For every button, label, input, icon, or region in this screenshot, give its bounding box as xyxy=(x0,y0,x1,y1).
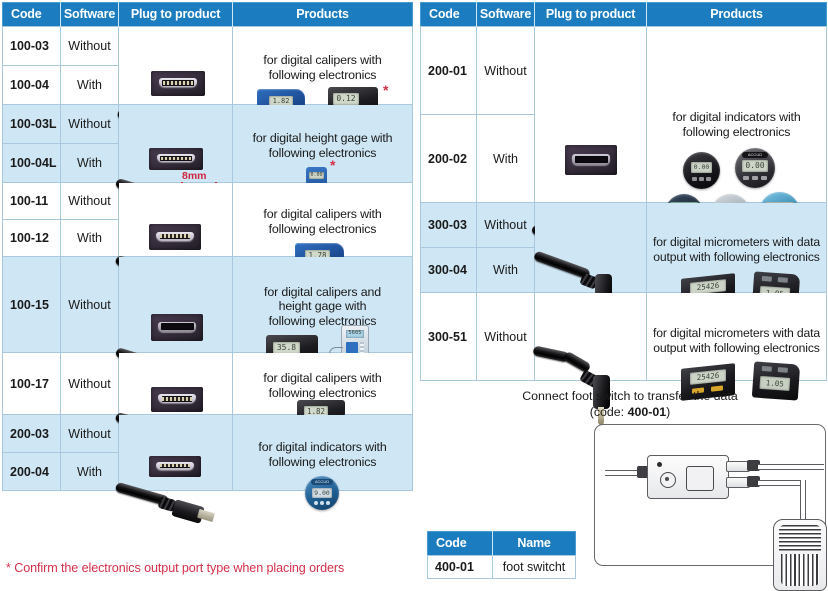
usb-socket-icon xyxy=(149,148,203,170)
cell-software: Without xyxy=(61,105,119,144)
cell-products: for digital calipers and height gage wit… xyxy=(233,257,413,353)
cell-code: 100-04 xyxy=(3,66,61,105)
cell-code: 400-01 xyxy=(428,556,493,579)
products-illustration-micrometers-2: for digital micrometers with data output… xyxy=(647,318,826,355)
cell-code: 200-02 xyxy=(421,115,477,203)
footswitch-pedal-wire-horizontal xyxy=(758,480,806,486)
footswitch-interface-unit xyxy=(647,455,729,499)
cell-plug-image xyxy=(535,293,647,381)
dial-indicator-accud-icon: ACCUD 0.00 xyxy=(735,148,775,188)
cell-products: for digital calipers with following elec… xyxy=(233,183,413,257)
cell-software: Without xyxy=(61,257,119,353)
cell-products: for digital height gage with following e… xyxy=(233,105,413,183)
cell-plug-image xyxy=(119,27,233,105)
status-led-icon xyxy=(657,462,662,467)
pedal-bottom-tread xyxy=(781,554,819,586)
cell-plug-image xyxy=(119,183,233,257)
products-illustration-micrometers-1: for digital micrometers with data output… xyxy=(647,231,826,264)
cell-software: Without xyxy=(61,183,119,220)
products-illustration-group-2: for digital height gage with following e… xyxy=(233,127,412,160)
table-row: 200-03 Without xyxy=(3,415,413,453)
cell-software: With xyxy=(61,144,119,183)
asterisk-marker: * xyxy=(330,158,335,172)
digital-indicator-dial-icon: ACCUD 9.00 xyxy=(305,476,339,510)
cell-products: for digital calipers with following elec… xyxy=(233,27,413,105)
cell-code: 300-51 xyxy=(421,293,477,381)
brand-label: ACCUD xyxy=(311,479,333,485)
products-description: for digital calipers with following elec… xyxy=(233,203,412,236)
cell-plug-image xyxy=(119,415,233,491)
brand-label: ACCUD xyxy=(742,152,768,158)
footswitch-code: 400-01 xyxy=(628,405,667,419)
column-header-products: Products xyxy=(647,3,827,27)
dial-indicator-black-icon: 0.00 xyxy=(683,152,720,189)
footswitch-diagram xyxy=(594,424,826,566)
column-header-software: Software xyxy=(61,3,119,27)
column-header-name: Name xyxy=(493,532,576,556)
cell-name: foot switcht xyxy=(493,556,576,579)
cell-software: Without xyxy=(477,203,535,248)
products-description: for digital calipers with following elec… xyxy=(233,49,412,82)
usb-socket-icon xyxy=(151,71,205,96)
products-illustration-group-1: for digital calipers with following elec… xyxy=(233,49,412,82)
footswitch-caption-line1: Connect foot switch to transfer the data xyxy=(432,389,828,405)
cell-code: 300-03 xyxy=(421,203,477,248)
table-header-row: Code Name xyxy=(428,532,576,556)
table-row: 200-01 Without xyxy=(421,27,827,115)
cell-software: With xyxy=(61,453,119,491)
cell-products: for digital calipers with following elec… xyxy=(233,353,413,415)
cell-software: With xyxy=(477,248,535,293)
footswitch-code-suffix: ) xyxy=(666,405,670,419)
products-description: for digital calipers with following elec… xyxy=(233,367,412,400)
footswitch-caption-line2: (code: 400-01) xyxy=(432,405,828,421)
table-row: 100-03L Without xyxy=(3,105,413,144)
cell-products: for digital indicators with following el… xyxy=(233,415,413,491)
footswitch-table: Code Name 400-01 foot switcht xyxy=(427,531,576,579)
cell-plug-image xyxy=(535,27,647,203)
products-description: for digital indicators with following el… xyxy=(233,436,412,469)
cell-code: 100-17 xyxy=(3,353,61,415)
cell-software: Without xyxy=(477,293,535,381)
cell-code: 100-11 xyxy=(3,183,61,220)
cell-plug-image xyxy=(119,353,233,415)
column-header-products: Products xyxy=(233,3,413,27)
footnote-text: * Confirm the electronics output port ty… xyxy=(6,561,344,575)
products-description: for digital micrometers with data output… xyxy=(647,318,826,355)
dimension-label: 8mm xyxy=(181,170,208,182)
usb-socket-icon xyxy=(149,456,201,477)
cell-plug-image: 8mm xyxy=(119,105,233,183)
table-row: 100-17 Without xyxy=(3,353,413,415)
table-row: 100-15 Without xyxy=(3,257,413,353)
footswitch-pedal-wire-vertical xyxy=(800,480,806,524)
unit-button[interactable] xyxy=(686,466,714,491)
footswitch-caption: Connect foot switch to transfer the data… xyxy=(432,389,828,420)
pedal-top-tread xyxy=(779,525,821,551)
cell-code: 100-03 xyxy=(3,27,61,66)
cell-code: 200-03 xyxy=(3,415,61,453)
column-header-code: Code xyxy=(428,532,493,556)
products-description: for digital micrometers with data output… xyxy=(647,231,826,264)
foot-pedal-icon[interactable] xyxy=(773,519,827,591)
table-row: 100-03 Without xyxy=(3,27,413,66)
cell-products: for digital micrometers with data output… xyxy=(647,203,827,293)
products-illustration-indicators: for digital indicators with following el… xyxy=(647,90,826,139)
column-header-plug-to-product: Plug to product xyxy=(119,3,233,27)
products-description: for digital calipers and height gage wit… xyxy=(233,281,412,329)
cell-code: 200-04 xyxy=(3,453,61,491)
cell-plug-image xyxy=(535,203,647,293)
column-header-plug-to-product: Plug to product xyxy=(535,3,647,27)
usb-socket-icon xyxy=(151,314,203,341)
table-row: 400-01 foot switcht xyxy=(428,556,576,579)
products-description: for digital height gage with following e… xyxy=(233,127,412,160)
table-row: 100-11 Without xyxy=(3,183,413,220)
column-header-code: Code xyxy=(421,3,477,27)
cell-software: Without xyxy=(61,353,119,415)
cell-plug-image xyxy=(119,257,233,353)
column-header-software: Software xyxy=(477,3,535,27)
cell-code: 100-04L xyxy=(3,144,61,183)
products-illustration-group-5: for digital calipers with following elec… xyxy=(233,367,412,400)
footswitch-output-wire-top xyxy=(758,464,824,470)
products-illustration-group-6: for digital indicators with following el… xyxy=(233,436,412,469)
products-description: for digital indicators with following el… xyxy=(647,90,826,139)
asterisk-marker: * xyxy=(383,83,388,97)
column-header-code: Code xyxy=(3,3,61,27)
cell-code: 100-12 xyxy=(3,220,61,257)
table-header-row: Code Software Plug to product Products xyxy=(421,3,827,27)
usb-socket-icon xyxy=(151,387,203,412)
cell-software: Without xyxy=(61,415,119,453)
cell-software: Without xyxy=(61,27,119,66)
cell-products: for digital indicators with following el… xyxy=(647,27,827,203)
cable-options-table-right: Code Software Plug to product Products 2… xyxy=(420,2,827,381)
cell-software: With xyxy=(61,66,119,105)
products-illustration-group-4: for digital calipers and height gage wit… xyxy=(233,281,412,329)
rotary-knob-icon xyxy=(660,472,676,488)
cell-code: 300-04 xyxy=(421,248,477,293)
cable-options-table-left: Code Software Plug to product Products 1… xyxy=(2,2,413,491)
table-row: 300-51 Without for digi xyxy=(421,293,827,381)
cell-code: 100-03L xyxy=(3,105,61,144)
usb-socket-icon xyxy=(149,224,201,250)
cell-software: With xyxy=(477,115,535,203)
cell-products: for digital micrometers with data output… xyxy=(647,293,827,381)
table-header-row: Code Software Plug to product Products xyxy=(3,3,413,27)
cell-code: 100-15 xyxy=(3,257,61,353)
footswitch-code-prefix: (code: xyxy=(590,405,628,419)
products-illustration-group-3: for digital calipers with following elec… xyxy=(233,203,412,236)
cell-code: 200-01 xyxy=(421,27,477,115)
table-row: 300-03 Without for digital micrometers xyxy=(421,203,827,248)
spec-sheet-page: Code Software Plug to product Products 1… xyxy=(0,0,828,582)
cell-software: With xyxy=(61,220,119,257)
cell-software: Without xyxy=(477,27,535,115)
usb-socket-icon xyxy=(565,145,617,175)
